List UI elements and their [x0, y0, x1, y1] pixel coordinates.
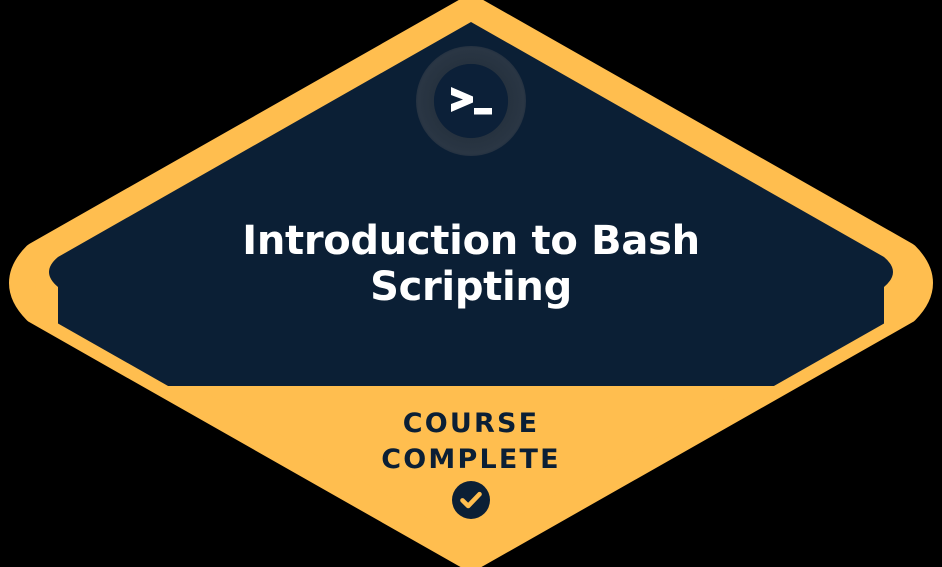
badge-diamond-shape: [0, 0, 942, 567]
badge-canvas: Introduction to Bash Scripting COURSE CO…: [0, 0, 942, 567]
badge-navy-panel: [49, 22, 893, 386]
